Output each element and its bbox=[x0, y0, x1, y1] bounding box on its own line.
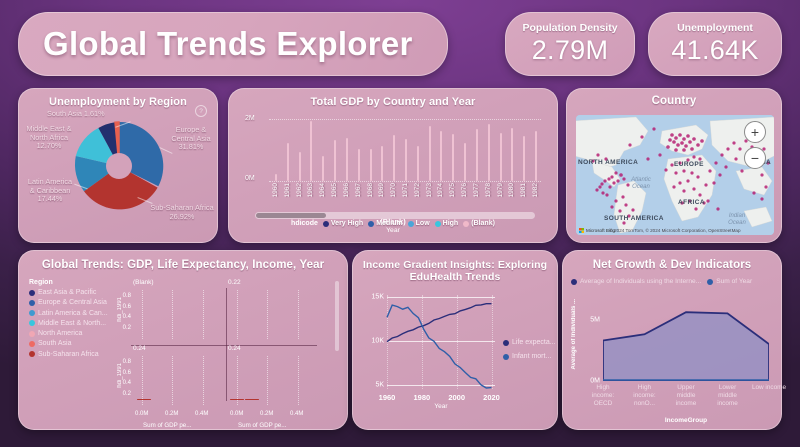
gdp-legend-item[interactable]: Low bbox=[408, 220, 430, 227]
line-y-tick: 10K bbox=[372, 338, 384, 345]
area-x-category: Lower middle income bbox=[710, 384, 746, 408]
scatter-y-tick: 0.2 bbox=[123, 391, 131, 397]
gdp-bar[interactable] bbox=[334, 140, 336, 181]
donut-label-sub-saharan-africa: Sub-Saharan Africa 26.92% bbox=[147, 204, 217, 221]
gdp-year-slider-thumb[interactable] bbox=[256, 213, 326, 218]
scatter-facets[interactable]: (Blank)0.80.60.40.2hdi_19910.220.240.80.… bbox=[131, 279, 321, 409]
net-growth-dev-indicators-card[interactable]: Net Growth & Dev Indicators Average of I… bbox=[562, 250, 782, 430]
global-trends-scatter-card[interactable]: Global Trends: GDP, Life Expectancy, Inc… bbox=[18, 250, 348, 430]
map-label-europe: EUROPE bbox=[674, 161, 704, 168]
area-x-category: High income: nonO... bbox=[627, 384, 663, 408]
gdp-legend[interactable]: hdicode Very HighMediumLowHigh(Blank) bbox=[229, 220, 557, 227]
kpi-card-population-density[interactable]: Population Density 2.79M bbox=[505, 12, 635, 76]
scatter-x-axis-title: Sum of GDP pe... bbox=[238, 422, 286, 429]
line-series-svg bbox=[387, 295, 495, 389]
gdp-x-tick: 1970 bbox=[390, 183, 397, 197]
gdp-bar[interactable] bbox=[523, 136, 525, 181]
total-gdp-by-country-and-year-card[interactable]: Total GDP by Country and Year 2M 0M 1960… bbox=[228, 88, 558, 243]
gdp-x-tick: 1981 bbox=[520, 183, 527, 197]
gdp-x-tick: 1976 bbox=[461, 183, 468, 197]
donut-chart-title: Unemployment by Region bbox=[19, 89, 217, 108]
gdp-gridline bbox=[269, 119, 541, 120]
map-label-south-america: SOUTH AMERICA bbox=[604, 215, 664, 222]
gdp-bar[interactable] bbox=[429, 126, 431, 181]
line-legend-label: Life expecta... bbox=[512, 339, 556, 346]
gdp-legend-item[interactable]: Very High bbox=[323, 220, 363, 227]
gdp-legend-label: Very High bbox=[331, 220, 363, 227]
gdp-x-tick: 1961 bbox=[284, 183, 291, 197]
gdp-x-tick: 1962 bbox=[296, 183, 303, 197]
scatter-facet[interactable]: 0.240.80.60.40.2hdi_1991 bbox=[131, 345, 226, 407]
region-legend-label: Middle East & North... bbox=[38, 320, 106, 327]
scatter-y-tick: 0.6 bbox=[123, 370, 131, 376]
kpi-label-unemployment: Unemployment bbox=[677, 22, 753, 34]
gdp-x-tick: 1972 bbox=[414, 183, 421, 197]
gdp-bar[interactable] bbox=[440, 131, 442, 181]
gdp-bar-plot[interactable] bbox=[269, 119, 541, 181]
map-title: Country bbox=[567, 89, 781, 107]
donut-label-europe-central-asia: Europe & Central Asia 31.81% bbox=[167, 126, 215, 152]
legend-color-dot bbox=[707, 279, 713, 285]
gdp-bar[interactable] bbox=[417, 146, 419, 181]
gdp-x-tick: 1965 bbox=[331, 183, 338, 197]
gdp-bar[interactable] bbox=[393, 135, 395, 181]
line-chart-plot[interactable]: 5K10K15K1960198020002020 bbox=[387, 295, 495, 389]
gdp-bar[interactable] bbox=[370, 149, 372, 181]
line-x-tick: 1980 bbox=[413, 393, 430, 402]
line-legend-label: Infant mort... bbox=[512, 353, 551, 360]
region-legend-item[interactable]: Europe & Central Asia bbox=[29, 299, 127, 306]
region-legend-item[interactable]: East Asia & Pacific bbox=[29, 289, 127, 296]
scatter-y-axis-title: hdi_1991 bbox=[117, 297, 123, 322]
legend-color-dot bbox=[29, 300, 35, 306]
gdp-x-tick: 1971 bbox=[402, 183, 409, 197]
scatter-facet-title: 0.24 bbox=[228, 345, 241, 352]
region-legend-label: Europe & Central Asia bbox=[38, 299, 107, 306]
legend-color-dot bbox=[571, 279, 577, 285]
scatter-y-tick: 0.4 bbox=[123, 314, 131, 320]
scatter-y-axis-title: hdi_1991 bbox=[117, 363, 123, 388]
region-legend-label: North America bbox=[38, 330, 82, 337]
area-x-category: Upper middle income bbox=[668, 384, 704, 408]
map-label-africa: AFRICA bbox=[678, 199, 705, 206]
legend-color-dot bbox=[463, 221, 469, 227]
scatter-facet-plot[interactable] bbox=[228, 356, 315, 405]
scatter-gridline bbox=[203, 356, 204, 405]
line-y-tick: 15K bbox=[372, 293, 384, 300]
gdp-legend-label: Medium bbox=[376, 220, 402, 227]
line-x-tick: 1960 bbox=[379, 393, 396, 402]
scatter-x-tick: 0.4M bbox=[290, 411, 303, 417]
scatter-x-tick: 0.0M bbox=[135, 411, 148, 417]
scatter-facet-plot[interactable]: 0.80.60.40.2hdi_1991 bbox=[133, 356, 220, 405]
gdp-bar[interactable] bbox=[500, 133, 502, 181]
gdp-x-tick: 1973 bbox=[426, 183, 433, 197]
dashboard-title-card: Global Trends Explorer bbox=[18, 12, 448, 76]
gdp-bar[interactable] bbox=[476, 129, 478, 181]
unemployment-by-region-card[interactable]: Unemployment by Region ? South Asia 1.61… bbox=[18, 88, 218, 243]
gdp-y-tick-2m: 2M bbox=[245, 115, 255, 122]
bing-logo-text: Microsoft Bing bbox=[586, 228, 615, 233]
area-legend-label: Average of Individuals using the Interne… bbox=[580, 278, 701, 285]
line-y-tick: 5K bbox=[375, 382, 384, 389]
line-legend-item[interactable]: Infant mort... bbox=[503, 353, 556, 360]
kpi-value-population-density: 2.79M bbox=[532, 35, 609, 66]
scatter-facet-plot[interactable] bbox=[228, 290, 315, 339]
scatter-gridline bbox=[267, 356, 268, 405]
scatter-gridline bbox=[237, 356, 238, 405]
map-canvas[interactable]: NORTH AMERICA SOUTH AMERICA EUROPE AFRIC… bbox=[576, 115, 774, 235]
gdp-legend-label: High bbox=[443, 220, 459, 227]
kpi-card-unemployment[interactable]: Unemployment 41.64K bbox=[648, 12, 782, 76]
gdp-legend-item[interactable]: Medium bbox=[368, 220, 402, 227]
gdp-chart-title: Total GDP by Country and Year bbox=[229, 89, 557, 108]
line-x-axis-title: Year bbox=[387, 403, 495, 410]
kpi-value-unemployment: 41.64K bbox=[671, 35, 758, 66]
income-gradient-insights-card[interactable]: Income Gradient Insights: Exploring EduH… bbox=[352, 250, 558, 430]
gdp-x-axis-title: Year bbox=[229, 227, 557, 234]
microsoft-logo-icon bbox=[579, 228, 584, 233]
scatter-gridline bbox=[172, 356, 173, 405]
gdp-x-tick: 1977 bbox=[473, 183, 480, 197]
legend-color-dot bbox=[29, 341, 35, 347]
area-chart-title: Net Growth & Dev Indicators bbox=[563, 251, 781, 271]
scatter-facet[interactable]: (Blank)0.80.60.40.2hdi_1991 bbox=[131, 279, 226, 341]
legend-color-dot bbox=[29, 290, 35, 296]
scatter-facet-title: 0.24 bbox=[133, 345, 146, 352]
area-legend-item[interactable]: Average of Individuals using the Interne… bbox=[571, 278, 701, 285]
donut-label-south-asia: South Asia 1.61% bbox=[47, 110, 147, 119]
region-legend-item[interactable]: South Asia bbox=[29, 340, 127, 347]
area-series[interactable] bbox=[603, 312, 769, 381]
gdp-year-slider[interactable] bbox=[255, 212, 535, 219]
gdp-legend-caption: hdicode bbox=[291, 220, 318, 227]
scatter-facet[interactable]: 0.24 bbox=[226, 345, 321, 407]
scatter-y-tick: 0.2 bbox=[123, 325, 131, 331]
scatter-gridline bbox=[142, 356, 143, 405]
country-map-card[interactable]: Country bbox=[566, 88, 782, 243]
scatter-y-tick: 0.8 bbox=[123, 293, 131, 299]
donut-label-middle-east-north-africa: Middle East & North Africa 12.70% bbox=[25, 125, 73, 151]
gdp-x-tick: 1966 bbox=[343, 183, 350, 197]
gdp-bar[interactable] bbox=[535, 131, 537, 181]
region-legend-item[interactable]: Latin America & Can... bbox=[29, 310, 127, 317]
scatter-gridline bbox=[203, 290, 204, 339]
gdp-x-tick: 1967 bbox=[355, 183, 362, 197]
region-legend-item[interactable]: North America bbox=[29, 330, 127, 337]
gdp-x-tick: 1964 bbox=[319, 183, 326, 197]
scatter-mark[interactable] bbox=[137, 399, 151, 401]
gdp-x-tick: 1975 bbox=[449, 183, 456, 197]
scatter-gridline bbox=[142, 290, 143, 339]
donut-label-latin-america-caribbean: Latin America & Caribbean 17.44% bbox=[27, 178, 73, 204]
legend-color-dot bbox=[29, 351, 35, 357]
area-chart-plot[interactable]: 0M5MHigh income: OECDHigh income: nonO..… bbox=[603, 295, 769, 381]
gdp-bar[interactable] bbox=[452, 134, 454, 181]
legend-color-dot bbox=[29, 320, 35, 326]
scatter-y-tick: 0.4 bbox=[123, 380, 131, 386]
scatter-gridline bbox=[267, 290, 268, 339]
gdp-x-tick: 1974 bbox=[437, 183, 444, 197]
region-legend-label: South Asia bbox=[38, 340, 71, 347]
legend-color-dot bbox=[29, 310, 35, 316]
scatter-x-tick: 0.2M bbox=[260, 411, 273, 417]
dashboard-root: Global Trends Explorer Population Densit… bbox=[0, 0, 800, 447]
gdp-bar[interactable] bbox=[358, 149, 360, 181]
region-legend-header: Region bbox=[29, 279, 127, 286]
gdp-bar[interactable] bbox=[464, 143, 466, 181]
map-label-north-america: NORTH AMERICA bbox=[578, 159, 638, 166]
area-x-category: High income: OECD bbox=[585, 384, 621, 408]
gdp-x-tick: 1969 bbox=[378, 183, 385, 197]
area-chart-legend[interactable]: Average of Individuals using the Interne… bbox=[571, 278, 752, 285]
legend-color-dot bbox=[503, 354, 509, 360]
region-legend-label: Latin America & Can... bbox=[38, 310, 108, 317]
map-zoom-in-button[interactable]: + bbox=[744, 121, 766, 143]
region-legend-item[interactable]: Middle East & North... bbox=[29, 320, 127, 327]
scatter-facet-plot[interactable]: 0.80.60.40.2hdi_1991 bbox=[133, 290, 220, 339]
line-legend-item[interactable]: Life expecta... bbox=[503, 339, 556, 346]
gdp-gridline bbox=[269, 181, 541, 182]
gdp-bar[interactable] bbox=[287, 143, 289, 181]
gdp-bar[interactable] bbox=[405, 139, 407, 181]
gdp-x-tick: 1963 bbox=[307, 183, 314, 197]
donut-chart[interactable]: South Asia 1.61% Middle East & North Afr… bbox=[19, 108, 217, 236]
map-label-atlantic-ocean: Atlantic Ocean bbox=[626, 177, 656, 191]
donut-svg bbox=[71, 118, 167, 214]
legend-color-dot bbox=[29, 331, 35, 337]
scatter-facet-title: 0.22 bbox=[228, 279, 241, 286]
area-x-axis-title: IncomeGroup bbox=[603, 417, 769, 424]
region-legend-item[interactable]: Sub-Saharan Africa bbox=[29, 351, 127, 358]
line-series[interactable] bbox=[387, 305, 492, 388]
gdp-x-tick: 1978 bbox=[485, 183, 492, 197]
gdp-bar[interactable] bbox=[346, 138, 348, 181]
gdp-legend-item[interactable]: High bbox=[435, 220, 459, 227]
legend-color-dot bbox=[503, 340, 509, 346]
line-x-tick: 2000 bbox=[448, 393, 465, 402]
scatter-gridline bbox=[172, 290, 173, 339]
line-chart-title: Income Gradient Insights: Exploring EduH… bbox=[353, 251, 557, 283]
area-legend-label: Sum of Year bbox=[716, 278, 752, 285]
gdp-bar[interactable] bbox=[322, 156, 324, 181]
gdp-x-tick: 1982 bbox=[532, 183, 539, 197]
area-x-category: Low income bbox=[751, 384, 787, 392]
line-x-tick: 2020 bbox=[483, 393, 500, 402]
gdp-bar[interactable] bbox=[381, 146, 383, 181]
gdp-x-tick: 1979 bbox=[497, 183, 504, 197]
legend-color-dot bbox=[408, 221, 414, 227]
scatter-facet-title: (Blank) bbox=[133, 279, 154, 286]
bing-logo: Microsoft Bing bbox=[579, 228, 615, 233]
legend-color-dot bbox=[323, 221, 329, 227]
gdp-bar[interactable] bbox=[488, 124, 490, 181]
gdp-x-tick: 1960 bbox=[272, 183, 279, 197]
gdp-legend-label: (Blank) bbox=[471, 220, 495, 227]
legend-color-dot bbox=[435, 221, 441, 227]
legend-color-dot bbox=[368, 221, 374, 227]
region-legend-label: East Asia & Pacific bbox=[38, 289, 96, 296]
area-series-svg bbox=[603, 295, 769, 381]
scatter-gridline bbox=[237, 290, 238, 339]
gdp-bar[interactable] bbox=[275, 174, 277, 181]
gdp-legend-item[interactable]: (Blank) bbox=[463, 220, 495, 227]
gdp-bar[interactable] bbox=[511, 128, 513, 181]
map-zoom-out-button[interactable]: − bbox=[744, 147, 766, 169]
scatter-facet[interactable]: 0.22 bbox=[226, 279, 321, 341]
gdp-x-tick: 1968 bbox=[367, 183, 374, 197]
kpi-label-population-density: Population Density bbox=[522, 22, 617, 34]
scatter-gridline bbox=[298, 356, 299, 405]
region-legend[interactable]: Region East Asia & PacificEurope & Centr… bbox=[29, 279, 127, 361]
region-legend-label: Sub-Saharan Africa bbox=[38, 351, 99, 358]
scatter-scrollbar[interactable] bbox=[335, 281, 339, 351]
gdp-x-tick: 1980 bbox=[508, 183, 515, 197]
area-y-axis-title: Average of Individuals ... bbox=[571, 299, 577, 369]
scatter-x-tick: 0.2M bbox=[165, 411, 178, 417]
gdp-legend-label: Low bbox=[416, 220, 430, 227]
map-label-indian-ocean: Indian Ocean bbox=[724, 213, 750, 227]
gdp-bar[interactable] bbox=[299, 152, 301, 181]
area-y-tick: 5M bbox=[590, 316, 600, 323]
gdp-y-tick-0m: 0M bbox=[245, 175, 255, 182]
scatter-mark[interactable] bbox=[245, 399, 259, 401]
scatter-gridline bbox=[298, 290, 299, 339]
line-chart-legend[interactable]: Life expecta...Infant mort... bbox=[503, 339, 556, 367]
area-legend-item[interactable]: Sum of Year bbox=[707, 278, 752, 285]
scatter-x-tick: 0.0M bbox=[230, 411, 243, 417]
scatter-x-axis-title: Sum of GDP pe... bbox=[143, 422, 191, 429]
scatter-chart-title: Global Trends: GDP, Life Expectancy, Inc… bbox=[19, 251, 347, 271]
gdp-bar[interactable] bbox=[310, 121, 312, 181]
scatter-y-tick: 0.6 bbox=[123, 304, 131, 310]
page-title: Global Trends Explorer bbox=[19, 25, 413, 63]
scatter-y-tick: 0.8 bbox=[123, 359, 131, 365]
scatter-x-tick: 0.4M bbox=[195, 411, 208, 417]
